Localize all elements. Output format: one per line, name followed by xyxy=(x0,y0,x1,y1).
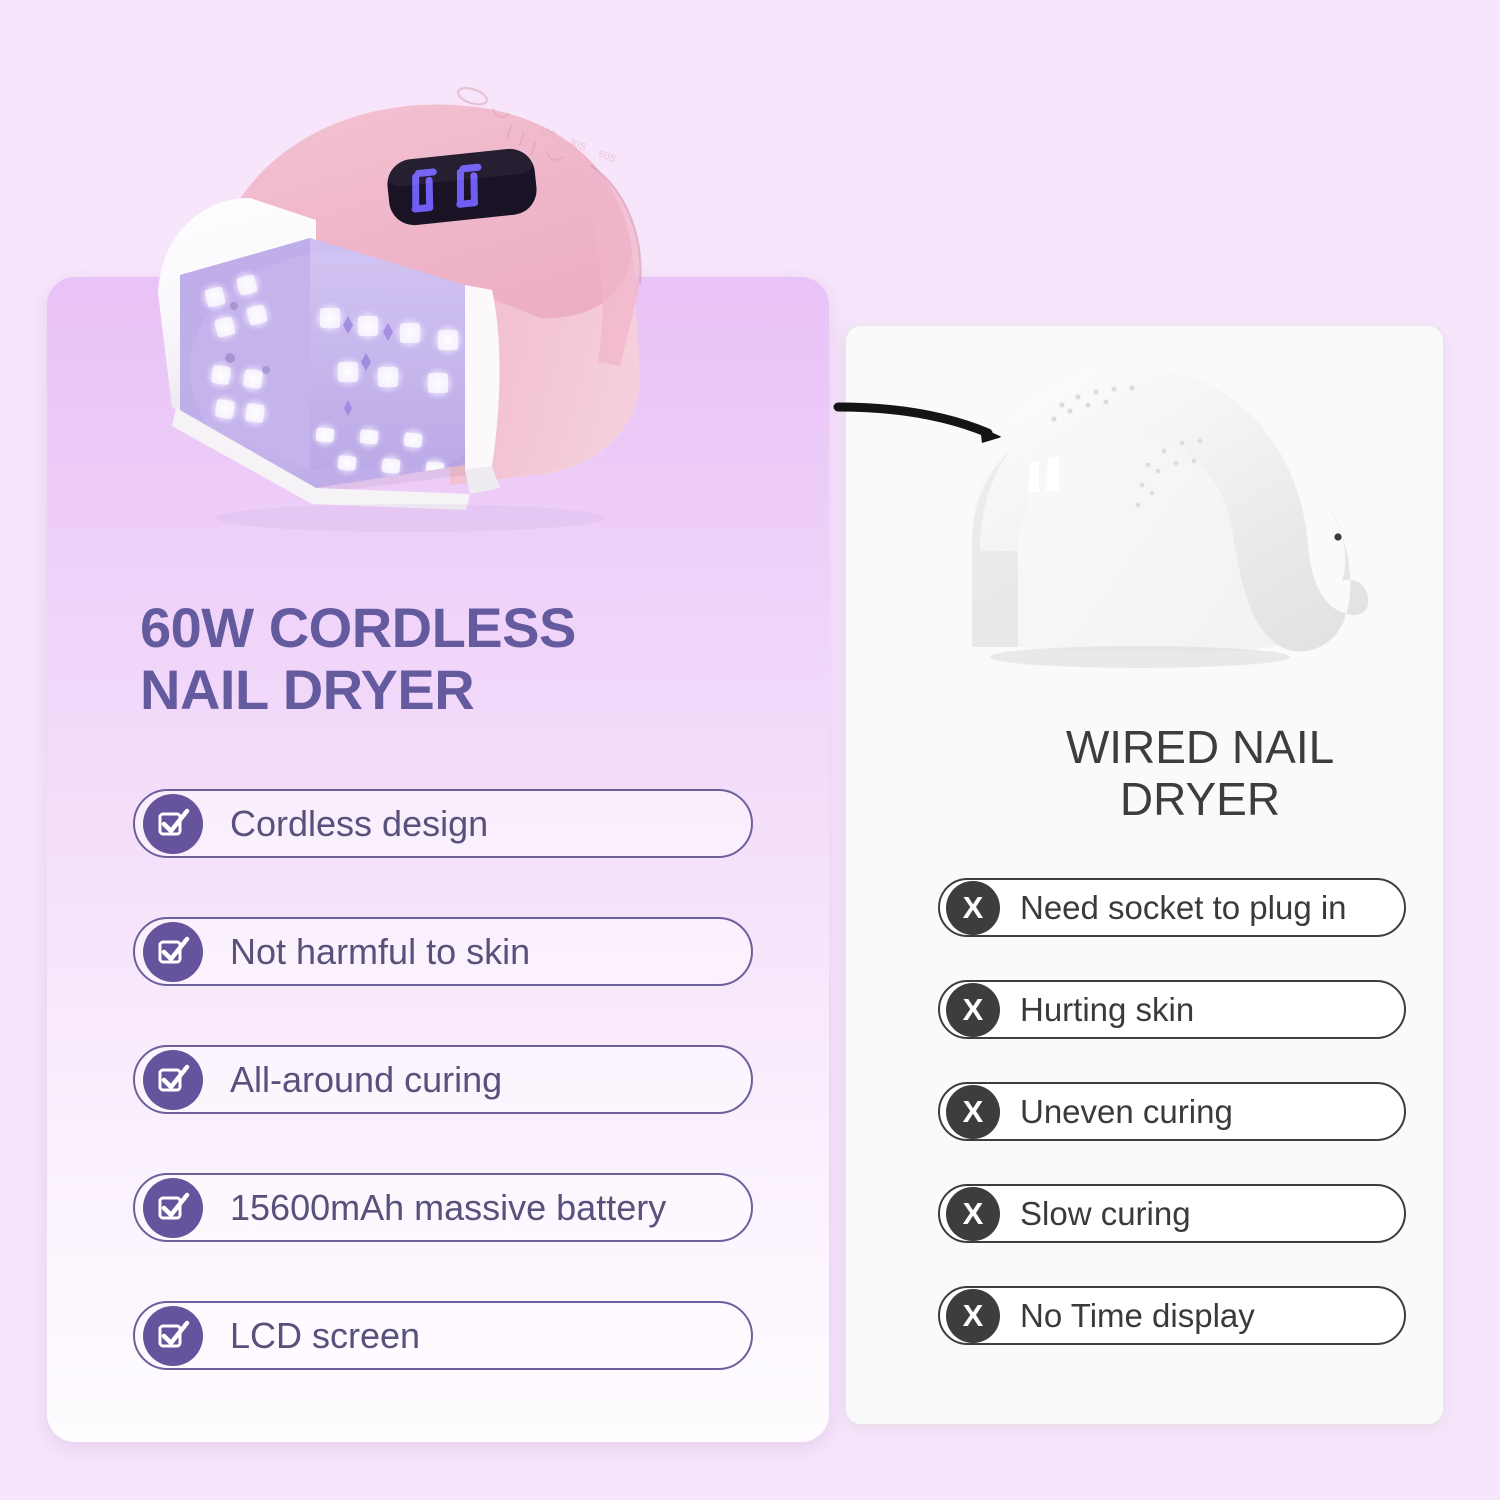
drawback-label: Hurting skin xyxy=(1020,991,1194,1029)
feature-label: Not harmful to skin xyxy=(230,931,530,973)
wired-drawback-list: X Need socket to plug in X Hurting skin … xyxy=(938,878,1406,1345)
feature-label: All-around curing xyxy=(230,1059,502,1101)
feature-label: Cordless design xyxy=(230,803,488,845)
cordless-feature-list: Cordless design Not harmful to skin All-… xyxy=(133,789,753,1370)
drawback-item-slow-curing[interactable]: X Slow curing xyxy=(938,1184,1406,1243)
check-icon xyxy=(143,794,203,854)
x-icon: X xyxy=(946,1085,1000,1139)
drawback-item-hurting-skin[interactable]: X Hurting skin xyxy=(938,980,1406,1039)
feature-label: 15600mAh massive battery xyxy=(230,1187,666,1229)
drawback-item-uneven-curing[interactable]: X Uneven curing xyxy=(938,1082,1406,1141)
cordless-title-line1: 60W CORDLESS xyxy=(140,597,780,659)
cordless-title-line2: NAIL DRYER xyxy=(140,659,780,721)
x-icon: X xyxy=(946,1289,1000,1343)
pink-cordless-nail-dryer-image: 10S 30S 60S xyxy=(120,70,720,540)
svg-text:60S: 60S xyxy=(597,149,618,166)
drawback-label: Slow curing xyxy=(1020,1195,1191,1233)
feature-item-not-harmful[interactable]: Not harmful to skin xyxy=(133,917,753,986)
x-icon: X xyxy=(946,983,1000,1037)
check-icon xyxy=(143,1050,203,1110)
wired-title-line1: WIRED NAIL xyxy=(950,722,1450,774)
drawback-item-need-socket[interactable]: X Need socket to plug in xyxy=(938,878,1406,937)
feature-item-lcd-screen[interactable]: LCD screen xyxy=(133,1301,753,1370)
drawback-label: Need socket to plug in xyxy=(1020,889,1347,927)
x-icon: X xyxy=(946,881,1000,935)
feature-item-cordless-design[interactable]: Cordless design xyxy=(133,789,753,858)
white-wired-nail-dryer-image xyxy=(830,345,1450,685)
drawback-label: No Time display xyxy=(1020,1297,1255,1335)
check-icon xyxy=(143,1178,203,1238)
comparison-infographic: 10S 30S 60S xyxy=(0,0,1500,1500)
feature-label: LCD screen xyxy=(230,1315,420,1357)
wired-title-line2: DRYER xyxy=(950,774,1450,826)
drawback-label: Uneven curing xyxy=(1020,1093,1233,1131)
feature-item-battery[interactable]: 15600mAh massive battery xyxy=(133,1173,753,1242)
feature-item-all-around-curing[interactable]: All-around curing xyxy=(133,1045,753,1114)
x-icon: X xyxy=(946,1187,1000,1241)
wired-title: WIRED NAIL DRYER xyxy=(950,722,1450,825)
cordless-title: 60W CORDLESS NAIL DRYER xyxy=(140,597,780,720)
drawback-item-no-time-display[interactable]: X No Time display xyxy=(938,1286,1406,1345)
check-icon xyxy=(143,922,203,982)
check-icon xyxy=(143,1306,203,1366)
